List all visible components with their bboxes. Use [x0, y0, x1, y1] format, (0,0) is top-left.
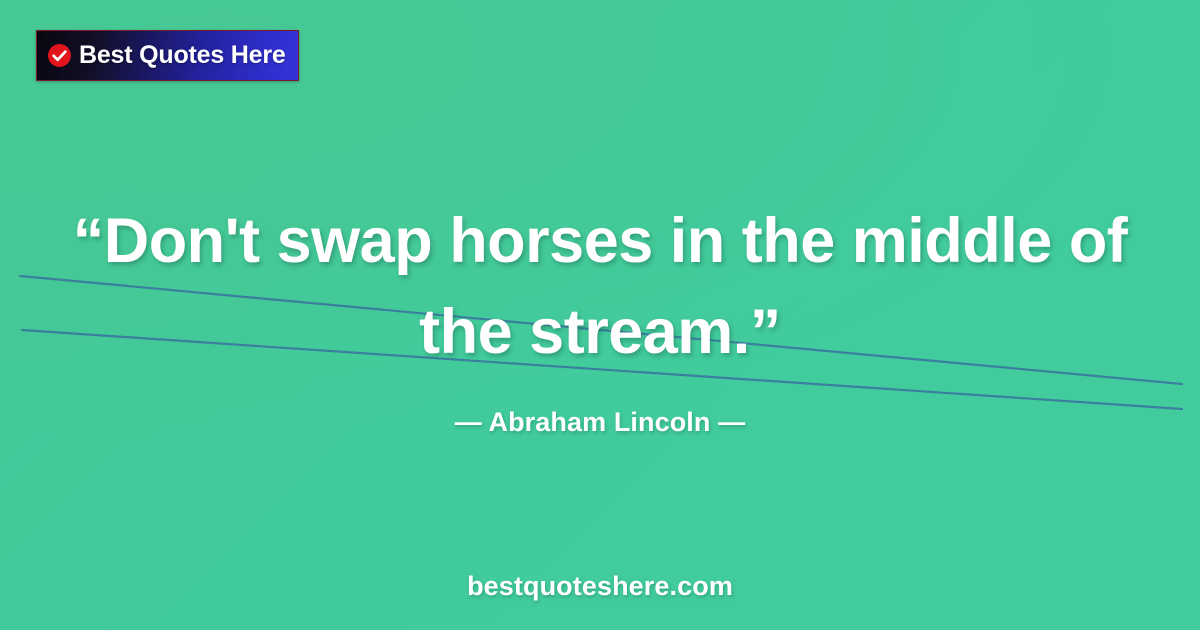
- verified-check-icon: [47, 43, 72, 68]
- quote-card: Best Quotes Here “Don't swap horses in t…: [0, 0, 1200, 630]
- quote-text: “Don't swap horses in the middle of the …: [60, 196, 1140, 377]
- brand-name-label: Best Quotes Here: [79, 43, 286, 68]
- site-url-label: bestquoteshere.com: [0, 570, 1200, 602]
- quote-content: “Don't swap horses in the middle of the …: [0, 0, 1200, 630]
- brand-badge[interactable]: Best Quotes Here: [36, 30, 299, 81]
- quote-attribution: — Abraham Lincoln —: [0, 406, 1200, 438]
